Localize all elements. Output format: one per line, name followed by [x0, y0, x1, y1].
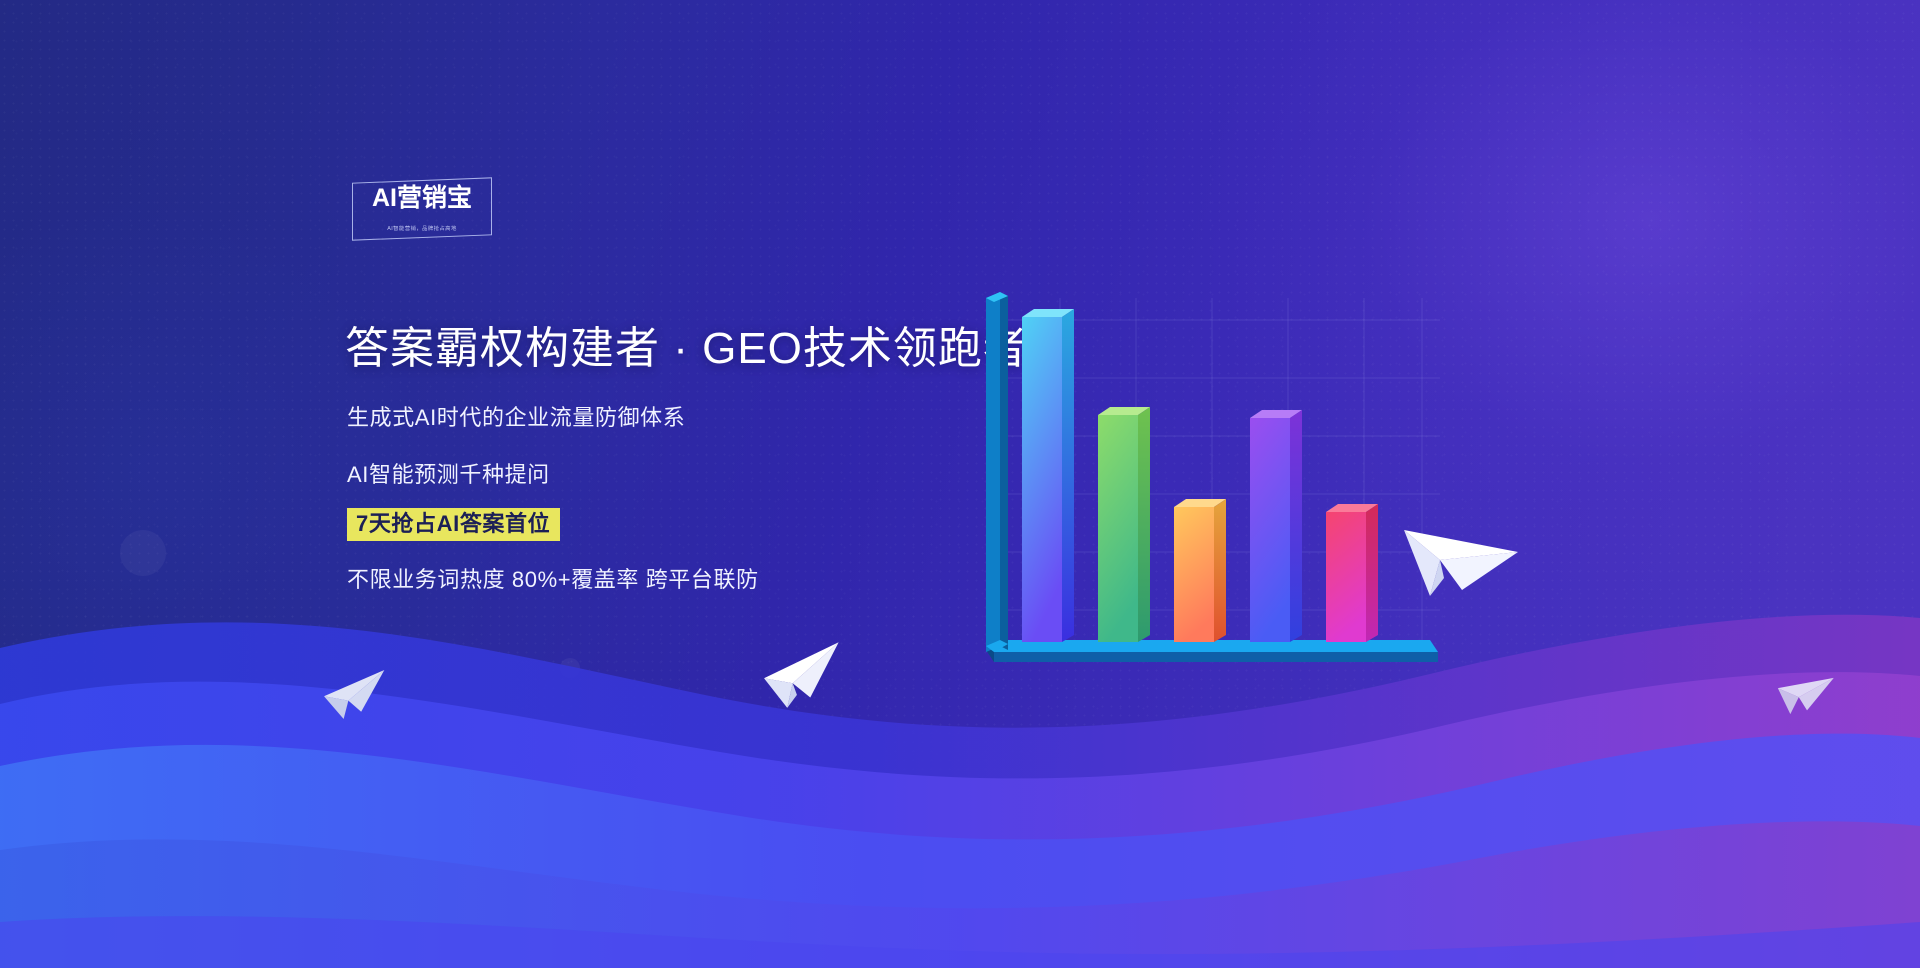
hero-subtitle-1: 生成式AI时代的企业流量防御体系 — [347, 400, 685, 432]
chart-bar — [1326, 504, 1378, 642]
paper-plane-icon — [1775, 672, 1835, 720]
hero-highlight-badge: 7天抢占AI答案首位 — [347, 508, 560, 541]
hero-headline: 答案霸权构建者 · GEO技术领跑者 — [345, 312, 1028, 376]
brand-logo[interactable]: AI营销宝 AI智能营销，品牌抢占高地 — [352, 180, 492, 238]
decorative-circle — [560, 658, 580, 678]
chart-bar — [1174, 499, 1226, 642]
decorative-circle — [120, 530, 166, 576]
logo-text: AI营销宝 — [352, 186, 492, 211]
hero-subtitle-4: 不限业务词热度 80%+覆盖率 跨平台联防 — [347, 562, 759, 594]
chart-bar — [1022, 309, 1074, 642]
chart-bar — [1250, 410, 1302, 642]
bar-chart-illustration — [960, 280, 1460, 680]
paper-plane-icon — [322, 668, 392, 722]
paper-plane-icon — [762, 640, 846, 712]
chart-baseline — [986, 640, 1438, 662]
chart-y-axis — [986, 292, 1008, 652]
chart-bar — [1098, 407, 1150, 642]
hero-subtitle-2: AI智能预测千种提问 — [347, 457, 550, 489]
marketing-banner: AI营销宝 AI智能营销，品牌抢占高地 答案霸权构建者 · GEO技术领跑者 生… — [0, 0, 1920, 968]
logo-subtitle: AI智能营销，品牌抢占高地 — [353, 224, 490, 232]
